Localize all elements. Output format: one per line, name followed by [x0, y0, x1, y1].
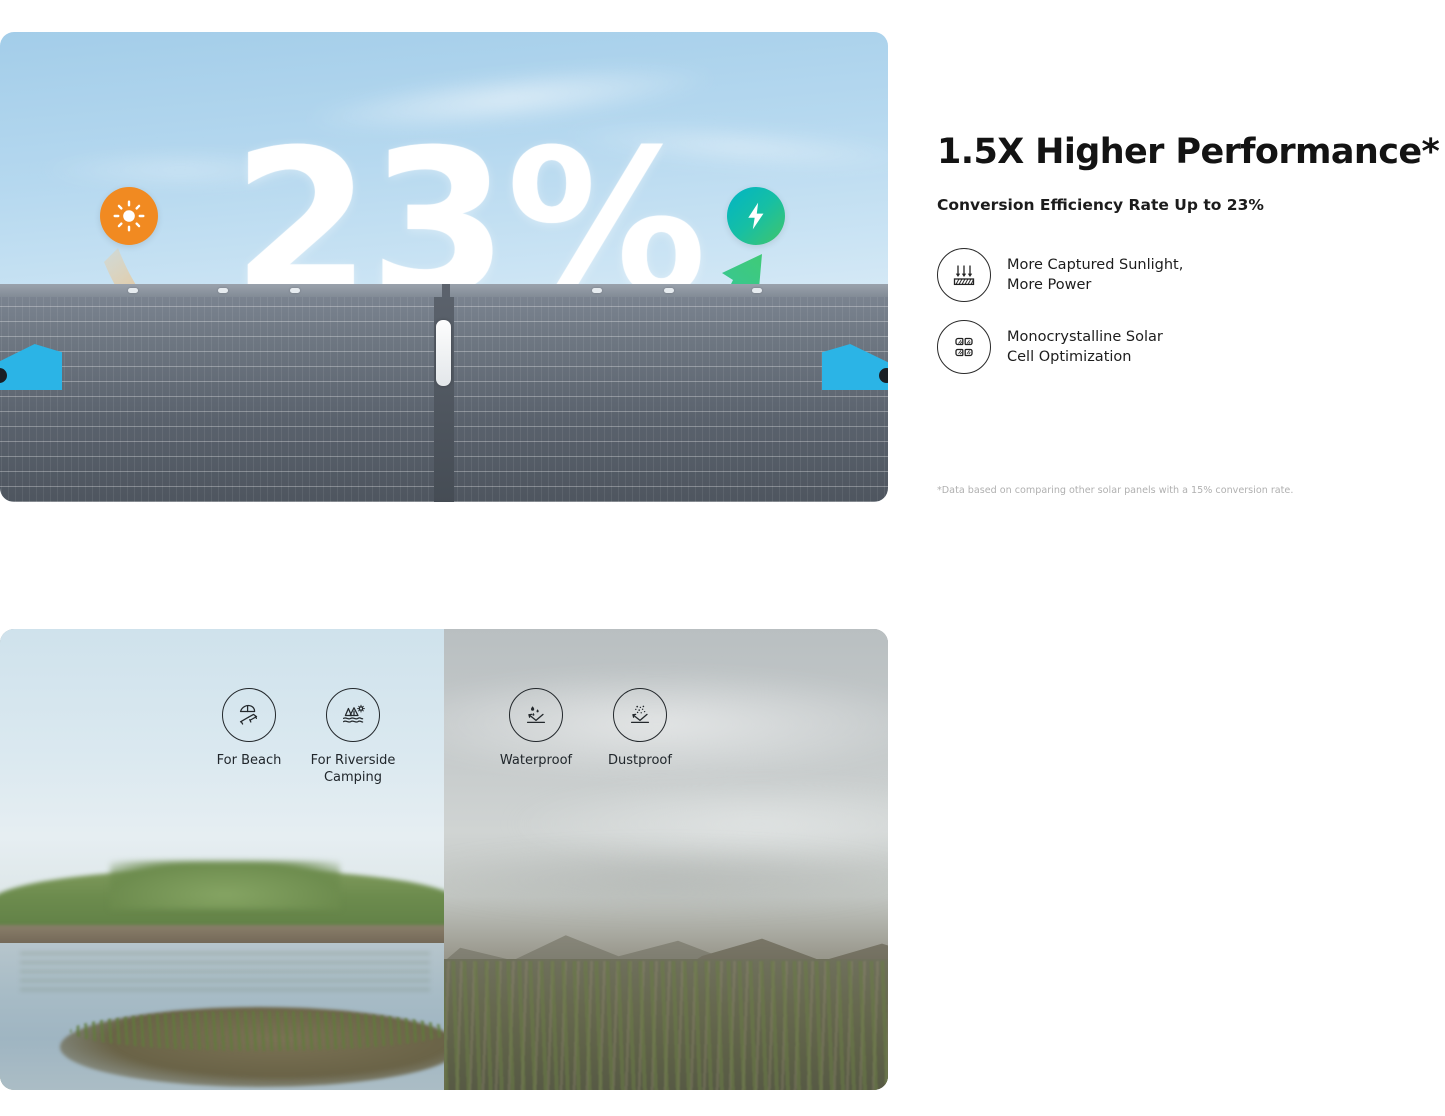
waterproof-section: For Beach — [0, 560, 1445, 1116]
waterproof-glyph — [520, 699, 552, 731]
solar-panel-graphic — [0, 32, 888, 502]
footnote: *Data based on comparing other solar pan… — [937, 485, 1293, 496]
panel-stud — [128, 288, 138, 293]
riverside-tent-icon — [326, 688, 380, 742]
storm-cloud-icon — [444, 844, 888, 914]
lightning-bolt-icon — [727, 187, 785, 245]
terrain-texture — [444, 961, 888, 1090]
usecase-badge-beach: For Beach — [197, 688, 301, 787]
protection-badge-waterproof: Waterproof — [484, 688, 588, 770]
label-line-2: Camping — [301, 770, 405, 787]
panel-stud — [664, 288, 674, 293]
protection-badge-dustproof: Dustproof — [588, 688, 692, 770]
treeline-highlight — [110, 861, 340, 909]
list-item-label: Monocrystalline Solar Cell Optimization — [1007, 327, 1163, 368]
list-item-label: More Captured Sunlight, More Power — [1007, 255, 1183, 296]
protection-badge-label: Dustproof — [588, 753, 692, 770]
performance-subtitle: Conversion Efficiency Rate Up to 23% — [937, 196, 1417, 214]
usecase-badge-row: For Beach — [197, 688, 405, 787]
panel-stud — [290, 288, 300, 293]
solar-cell-grid-glyph — [949, 332, 979, 362]
water-reflection — [20, 951, 430, 991]
panel-stud — [592, 288, 602, 293]
panel-right-wing — [450, 284, 888, 502]
panel-hinge — [434, 284, 454, 502]
performance-section: 23% — [0, 0, 1445, 560]
list-item: More Captured Sunlight, More Power — [937, 248, 1417, 302]
label-line-1: Dustproof — [588, 753, 692, 770]
sun-glyph — [112, 199, 146, 233]
list-item: Monocrystalline Solar Cell Optimization — [937, 320, 1417, 374]
sun-icon — [100, 187, 158, 245]
usecase-badge-label: For Riverside Camping — [301, 753, 405, 787]
handle-hole — [0, 368, 7, 383]
product-feature-page: 23% — [0, 0, 1445, 1116]
dustproof-glyph — [624, 699, 656, 731]
protection-badge-label: Waterproof — [484, 753, 588, 770]
label-line-1: For Riverside — [301, 753, 405, 770]
grass-texture — [70, 1011, 444, 1051]
performance-text-column: 1.5X Higher Performance* Conversion Effi… — [937, 132, 1417, 392]
handle-hole — [879, 368, 888, 383]
beach-umbrella-lounger-icon — [222, 688, 276, 742]
performance-hero-image: 23% — [0, 32, 888, 502]
panel-left-wing — [0, 284, 442, 502]
page-title: 1.5X Higher Performance* — [937, 132, 1417, 172]
waterproof-icon — [509, 688, 563, 742]
feature-line-1: Monocrystalline Solar — [1007, 327, 1163, 348]
riverside-glyph — [337, 699, 369, 731]
label-line-1: Waterproof — [484, 753, 588, 770]
usecase-badge-riverside: For Riverside Camping — [301, 688, 405, 787]
beach-glyph — [233, 699, 265, 731]
dustproof-icon — [613, 688, 667, 742]
usecase-badge-label: For Beach — [197, 753, 301, 770]
feature-line-1: More Captured Sunlight, — [1007, 255, 1183, 276]
solar-cell-grid-icon — [937, 320, 991, 374]
feature-list: More Captured Sunlight, More Power — [937, 248, 1417, 374]
bolt-glyph — [740, 200, 772, 232]
panel-center-handle — [436, 320, 451, 386]
label-line-1: For Beach — [197, 753, 301, 770]
waterproof-hero-image: For Beach — [0, 629, 888, 1090]
protection-badge-row: Waterproof — [484, 688, 692, 770]
panel-stud — [752, 288, 762, 293]
feature-line-2: Cell Optimization — [1007, 347, 1163, 368]
panel-stud — [218, 288, 228, 293]
sunlight-capture-icon — [937, 248, 991, 302]
sunlight-capture-glyph — [949, 260, 979, 290]
feature-line-2: More Power — [1007, 275, 1183, 296]
